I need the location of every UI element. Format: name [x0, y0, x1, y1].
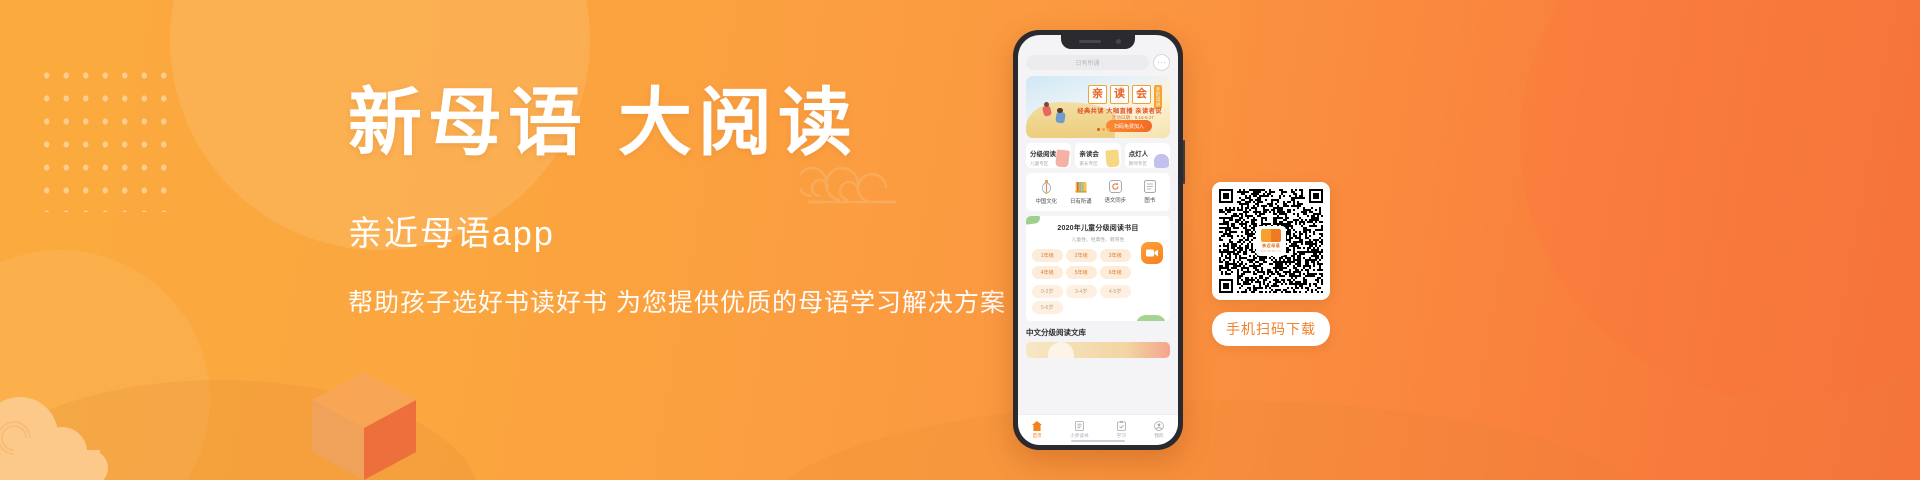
quick-link-label: 中国文化 [1035, 197, 1057, 205]
decorative-cube [312, 372, 416, 480]
grade-chip[interactable]: 1年级 [1032, 249, 1063, 262]
qr-logo-name: 亲近母语 [1262, 243, 1280, 249]
quick-link-textbook-sync[interactable]: 语文同步 [1098, 180, 1133, 205]
list-icon [1075, 421, 1084, 431]
grade-chip[interactable]: 5年级 [1066, 266, 1097, 279]
hero-kid-blue-head [1057, 108, 1063, 114]
leaf-decoration-bottom-icon [1136, 315, 1166, 321]
hero-banner[interactable]: 亲 读 会 亲近母语 经典共读 大咖直播 亲读者说 活动日期：9.16-9.27… [1026, 76, 1170, 138]
headline-part-1: 新母语 [348, 80, 588, 166]
hero-char-2: 读 [1110, 85, 1129, 104]
age-chip-group: 0-3岁 3-4岁 4-5岁 5-6岁 [1032, 285, 1164, 315]
play-video-icon[interactable] [1141, 242, 1163, 264]
decorative-hill-right [760, 400, 1660, 480]
app-name: 亲近母语app [348, 206, 1028, 255]
tab-study[interactable]: 学习 [1117, 421, 1126, 439]
qr-logo-pinyin: QIN JIN MU YU [1261, 250, 1282, 253]
qr-code[interactable]: 亲近母语 QIN JIN MU YU [1212, 182, 1330, 300]
quick-link-books[interactable]: 图书 [1133, 180, 1168, 205]
phone-notch [1061, 35, 1135, 49]
headline-part-2: 大阅读 [618, 80, 858, 166]
home-icon [1032, 421, 1042, 431]
user-icon [1154, 421, 1164, 431]
hero-kid-blue [1055, 111, 1065, 123]
age-chip[interactable]: 4-5岁 [1100, 285, 1131, 298]
copy-block: 新母语大阅读 亲近母语app 帮助孩子选好书读好书 为您提供优质的母语学习解决方… [348, 86, 1028, 319]
tab-label: 学习 [1117, 433, 1126, 439]
quick-link-label: 图书 [1144, 196, 1155, 204]
category-cards: 分级阅读 儿童专区 亲读会 家长专区 点灯人 教师专区 [1026, 143, 1170, 168]
grade-chip[interactable]: 3年级 [1100, 249, 1131, 262]
category-card-graded-reading[interactable]: 分级阅读 儿童专区 [1026, 143, 1071, 168]
decorative-circle-right [1520, 0, 1920, 400]
library-title: 中文分级阅读文库 [1026, 327, 1170, 338]
clipboard-check-icon [1117, 421, 1126, 431]
library-section[interactable]: 中文分级阅读文库 [1026, 327, 1170, 358]
quick-links: 中国文化 日有所诵 [1026, 173, 1170, 211]
phone-screen: 日有所诵 亲 读 会 亲近母语 经典共读 大咖直播 亲读者说 活动日期：9.16… [1018, 35, 1178, 445]
phone-mockup: 日有所诵 亲 读 会 亲近母语 经典共读 大咖直播 亲读者说 活动日期：9.16… [1013, 30, 1183, 450]
book-logo-icon [1261, 229, 1281, 242]
sync-icon [1109, 180, 1122, 193]
age-chip[interactable]: 0-3岁 [1032, 285, 1063, 298]
download-cta-button[interactable]: 手机扫码下载 [1212, 312, 1330, 346]
book-icon [1144, 180, 1156, 193]
decorative-hill-left [0, 380, 480, 480]
home-indicator [1071, 440, 1125, 443]
tab-reading[interactable]: 小步读书 [1070, 421, 1088, 439]
quick-link-label: 语文同步 [1104, 196, 1126, 204]
booklist-title: 2020年儿童分级阅读书目 [1032, 223, 1164, 233]
grade-chip[interactable]: 6年级 [1100, 266, 1131, 279]
hero-char-1: 亲 [1088, 85, 1107, 104]
decorative-circle-left [0, 250, 210, 480]
book-shape-icon [1105, 149, 1119, 167]
grade-chip[interactable]: 4年级 [1032, 266, 1063, 279]
qr-block: 亲近母语 QIN JIN MU YU 手机扫码下载 [1212, 182, 1330, 346]
age-chip[interactable]: 3-4岁 [1066, 285, 1097, 298]
tab-home[interactable]: 首页 [1032, 421, 1042, 439]
book-shape-icon [1055, 149, 1070, 167]
more-dots-icon[interactable] [1153, 54, 1170, 71]
quick-link-daily-recite[interactable]: 日有所诵 [1064, 180, 1099, 205]
category-card-teacher[interactable]: 点灯人 教师专区 [1125, 143, 1170, 168]
decorative-dot-grid [35, 62, 175, 212]
tab-label: 我的 [1154, 433, 1163, 439]
page-title: 新母语大阅读 [348, 86, 1028, 160]
book-stack-icon [1074, 180, 1088, 194]
hero-subtitle: 经典共读 大咖直播 亲读者说 [1077, 106, 1162, 115]
tagline: 帮助孩子选好书读好书 为您提供优质的母语学习解决方案 [348, 283, 1028, 319]
library-card[interactable] [1026, 342, 1170, 358]
quick-link-label: 日有所诵 [1070, 197, 1092, 205]
hero-char-3: 会 [1132, 85, 1151, 104]
person-shape-icon [1154, 154, 1169, 168]
age-chip[interactable]: 5-6岁 [1032, 301, 1063, 314]
hero-join-button[interactable]: 扫码免费加入 [1106, 120, 1152, 132]
tab-profile[interactable]: 我的 [1154, 421, 1164, 439]
category-card-parent-club[interactable]: 亲读会 家长专区 [1075, 143, 1120, 168]
search-input[interactable]: 日有所诵 [1026, 55, 1149, 70]
tab-label: 首页 [1032, 433, 1041, 439]
decorative-cloud-bottom-left [0, 380, 140, 480]
bottom-tabbar: 首页 小步读书 学习 [1018, 414, 1178, 445]
grade-chip[interactable]: 2年级 [1066, 249, 1097, 262]
hero-carousel-dots[interactable] [1097, 128, 1110, 131]
hero-kid-red-head [1044, 102, 1049, 107]
booklist-section: 2020年儿童分级阅读书目 儿童性、经典性、教育性 1年级 2年级 3年级 4年… [1026, 216, 1170, 321]
qr-logo: 亲近母语 QIN JIN MU YU [1256, 226, 1286, 256]
promo-banner: 新母语大阅读 亲近母语app 帮助孩子选好书读好书 为您提供优质的母语学习解决方… [0, 0, 1920, 480]
lantern-icon [1040, 180, 1053, 194]
quick-link-chinese-culture[interactable]: 中国文化 [1029, 180, 1064, 205]
tab-label: 小步读书 [1070, 433, 1088, 439]
